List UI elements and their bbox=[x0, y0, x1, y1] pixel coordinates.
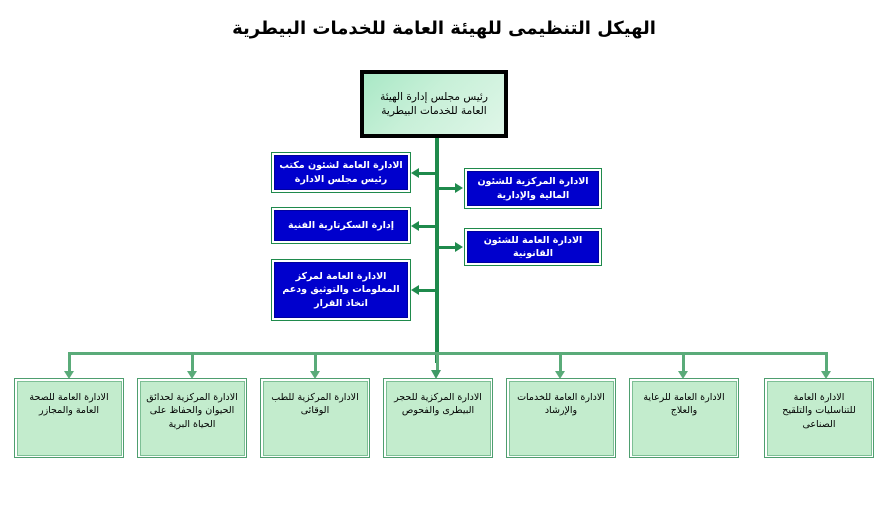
node-department-7-label: الادارة العامة للتناسليات والتلقيح الصنا… bbox=[767, 381, 872, 456]
arrow-left-2-icon bbox=[411, 221, 419, 231]
node-staff-left-2-label: إدارة السكرتارية الفنية bbox=[274, 210, 408, 241]
node-department-7[interactable]: الادارة العامة للتناسليات والتلقيح الصنا… bbox=[764, 378, 874, 458]
node-department-2-label: الادارة المركزية لحدائق الحيوان والحفاظ … bbox=[140, 381, 245, 456]
arrow-right-2-icon bbox=[455, 242, 463, 252]
node-staff-left-1[interactable]: الادارة العامة لشئون مكتب رئيس مجلس الاد… bbox=[271, 152, 411, 193]
node-department-1[interactable]: الادارة العامة للصحة العامة والمجازر bbox=[14, 378, 124, 458]
node-staff-right-2-label: الادارة العامة للشئون القانونية bbox=[467, 231, 599, 263]
node-department-2[interactable]: الادارة المركزية لحدائق الحيوان والحفاظ … bbox=[137, 378, 247, 458]
node-department-5[interactable]: الادارة العامة للخدمات والإرشاد bbox=[506, 378, 616, 458]
node-department-6[interactable]: الادارة العامة للرعاية والعلاج bbox=[629, 378, 739, 458]
node-department-1-label: الادارة العامة للصحة العامة والمجازر bbox=[17, 381, 122, 456]
connector-left-1 bbox=[419, 172, 437, 175]
node-staff-left-3[interactable]: الادارة العامة لمركز المعلومات والتوثيق … bbox=[271, 259, 411, 321]
node-staff-left-1-label: الادارة العامة لشئون مكتب رئيس مجلس الاد… bbox=[274, 155, 408, 190]
node-staff-right-1-label: الادارة المركزية للشئون المالية والإداري… bbox=[467, 171, 599, 206]
node-department-3-label: الادارة المركزية للطب الوقائى bbox=[263, 381, 368, 456]
connector-right-1 bbox=[438, 187, 456, 190]
connector-left-3 bbox=[419, 289, 437, 292]
node-staff-right-1[interactable]: الادارة المركزية للشئون المالية والإداري… bbox=[464, 168, 602, 209]
node-staff-right-2[interactable]: الادارة العامة للشئون القانونية bbox=[464, 228, 602, 266]
page-title: الهيكل التنظيمى للهيئة العامة للخدمات ال… bbox=[0, 18, 888, 39]
node-department-5-label: الادارة العامة للخدمات والإرشاد bbox=[509, 381, 614, 456]
node-department-4[interactable]: الادارة المركزية للحجر البيطرى والفحوص bbox=[383, 378, 493, 458]
node-root-label: رئيس مجلس إدارة الهيئة العامة للخدمات ال… bbox=[370, 90, 498, 118]
node-staff-left-2[interactable]: إدارة السكرتارية الفنية bbox=[271, 207, 411, 244]
arrow-right-1-icon bbox=[455, 183, 463, 193]
node-staff-left-3-label: الادارة العامة لمركز المعلومات والتوثيق … bbox=[274, 262, 408, 318]
node-department-4-label: الادارة المركزية للحجر البيطرى والفحوص bbox=[386, 381, 491, 456]
node-root-chairman[interactable]: رئيس مجلس إدارة الهيئة العامة للخدمات ال… bbox=[360, 70, 508, 138]
node-department-6-label: الادارة العامة للرعاية والعلاج bbox=[632, 381, 737, 456]
connector-right-2 bbox=[438, 246, 456, 249]
connector-left-2 bbox=[419, 225, 437, 228]
arrow-left-3-icon bbox=[411, 285, 419, 295]
arrow-left-1-icon bbox=[411, 168, 419, 178]
connector-bottom-bus bbox=[68, 352, 828, 355]
node-department-3[interactable]: الادارة المركزية للطب الوقائى bbox=[260, 378, 370, 458]
org-chart-canvas: الهيكل التنظيمى للهيئة العامة للخدمات ال… bbox=[0, 0, 888, 522]
